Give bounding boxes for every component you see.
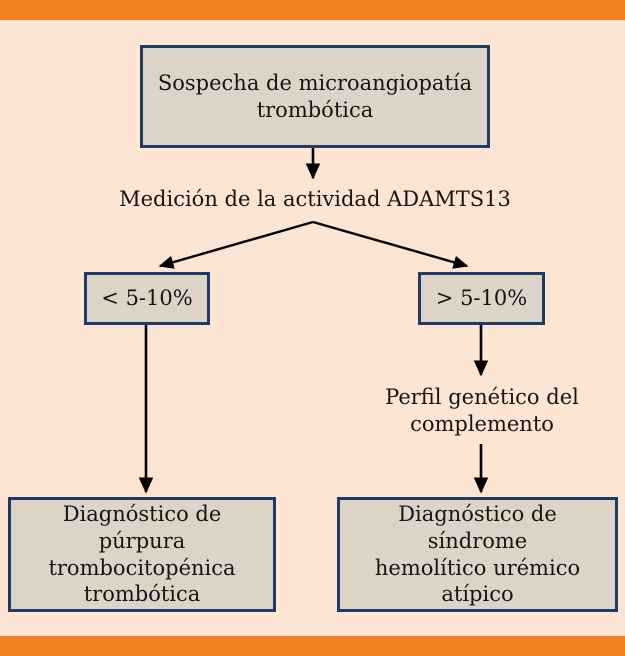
node-suspicion: Sospecha de microangiopatía trombótica [140, 45, 490, 148]
bottom-accent-bar [0, 636, 625, 656]
edge-adamts-to-low-activity [160, 222, 313, 266]
node-complement-profile: Perfil genético del complemento [357, 384, 607, 439]
node-diagnosis-ahus: Diagnóstico de síndrome hemolítico urémi… [337, 497, 618, 612]
top-accent-bar [0, 0, 625, 20]
edge-adamts-to-high-activity [313, 222, 467, 266]
node-adamts-measurement: Medición de la actividad ADAMTS13 [80, 186, 550, 213]
flowchart-figure: Sospecha de microangiopatía trombótica M… [0, 0, 625, 656]
node-diagnosis-ttp: Diagnóstico de púrpura trombocitopénica … [8, 497, 276, 612]
node-high-activity: > 5-10% [418, 272, 545, 325]
node-low-activity: < 5-10% [84, 272, 210, 325]
